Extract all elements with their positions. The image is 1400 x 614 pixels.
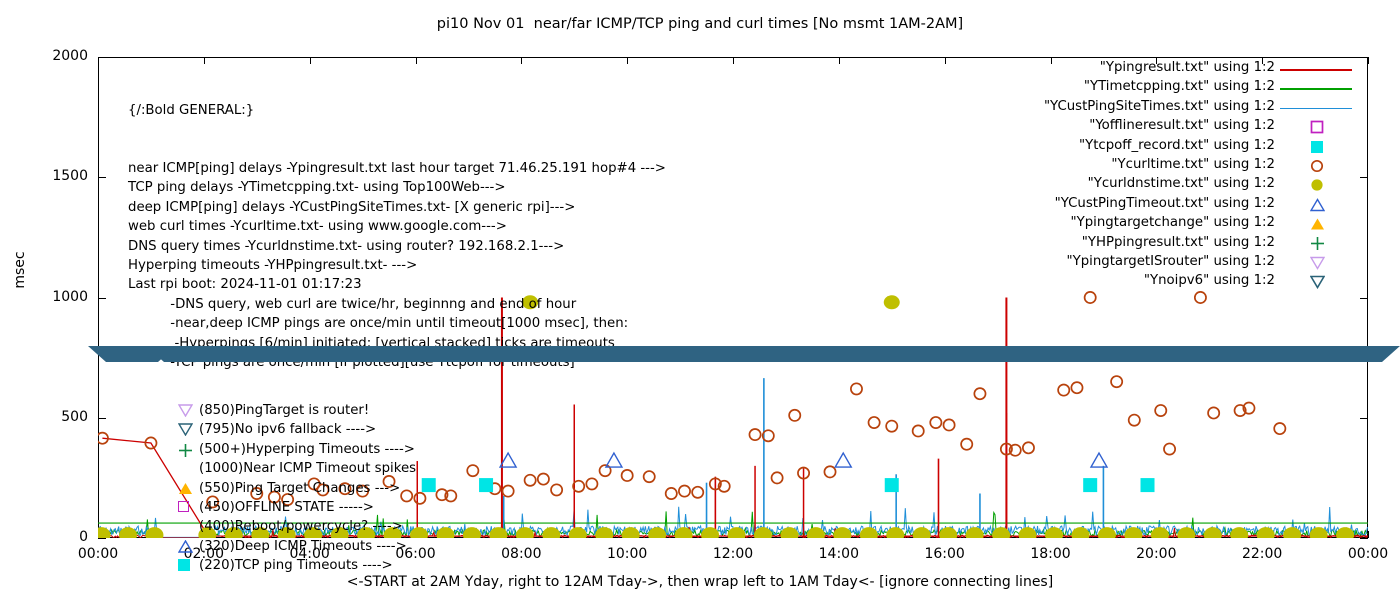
- legend-label: "Ypingresult.txt" using 1:2: [1100, 60, 1275, 75]
- legend-marker-swatch: [1310, 236, 1326, 252]
- legend-line-swatch: [1280, 69, 1352, 71]
- legend-label: "Yofflineresult.txt" using 1:2: [1089, 118, 1275, 133]
- legend-marker-swatch: [1310, 255, 1326, 271]
- legend-label: "Ycurldnstime.txt" using 1:2: [1088, 176, 1275, 191]
- curl-time-marker: [1195, 292, 1206, 303]
- banner-shape: [88, 346, 1400, 362]
- legend-entry[interactable]: "YTimetcpping.txt" using 1:2: [980, 79, 1370, 98]
- curl-time-marker: [644, 471, 655, 482]
- legend-label: "YCustPingTimeout.txt" using 1:2: [1055, 196, 1275, 211]
- legend-marker-swatch: [1310, 216, 1326, 232]
- curl-time-marker: [538, 473, 549, 484]
- anomaly-label: (1000)Near ICMP Timeout spikes: [199, 459, 416, 478]
- curl-time-marker: [467, 465, 478, 476]
- x-tick-label: 14:00: [799, 546, 879, 562]
- curl-time-marker: [551, 484, 562, 495]
- curl-time-marker: [749, 429, 760, 440]
- curl-time-marker: [1023, 442, 1034, 453]
- anomaly-label: (500+)Hyperping Timeouts ---->: [199, 440, 415, 459]
- legend: "Ypingresult.txt" using 1:2"YTimetcpping…: [980, 60, 1370, 293]
- dns-baseline-dot: [913, 527, 931, 538]
- anomaly-row: (500+)Hyperping Timeouts ---->: [128, 440, 416, 459]
- dns-baseline-dot: [98, 527, 111, 538]
- legend-key: [1280, 215, 1352, 234]
- tcp-timeout-marker: [479, 478, 493, 492]
- deep-icmp-timeout-marker: [835, 453, 851, 467]
- legend-key: [1280, 196, 1352, 215]
- general-line: near ICMP[ping] delays -Ypingresult.txt …: [128, 159, 666, 178]
- general-line: DNS query times -Ycurldnstime.txt- using…: [128, 237, 666, 256]
- curl-time-marker: [666, 488, 677, 499]
- legend-marker-swatch: [1310, 197, 1326, 213]
- x-tick-label: 20:00: [1116, 546, 1196, 562]
- dns-baseline-dot: [1257, 527, 1275, 538]
- curl-time-marker: [1058, 384, 1069, 395]
- legend-entry[interactable]: "Yofflineresult.txt" using 1:2: [980, 118, 1370, 137]
- dns-baseline-dot: [569, 527, 587, 538]
- curl-time-marker: [913, 425, 924, 436]
- y-tick-label: 1000: [18, 289, 88, 305]
- anomaly-label: (400)Reboot/powercycle? ---->: [199, 517, 403, 536]
- tcp-timeout-marker: [1141, 478, 1155, 492]
- general-line: Last rpi boot: 2024-11-01 01:17:23: [128, 275, 666, 294]
- general-heading: {/:Bold GENERAL:}: [128, 101, 666, 120]
- legend-entry[interactable]: "YCustPingSiteTimes.txt" using 1:2: [980, 99, 1370, 118]
- chart-root: pi10 Nov 01 near/far ICMP/TCP ping and c…: [0, 0, 1400, 600]
- legend-label: "YHPpingresult.txt" using 1:2: [1082, 235, 1275, 250]
- legend-key: [1280, 273, 1352, 292]
- legend-entry[interactable]: "Ypingresult.txt" using 1:2: [980, 60, 1370, 79]
- legend-marker-swatch: [1310, 158, 1326, 174]
- curl-time-marker: [943, 419, 954, 430]
- anomaly-row: (450)OFFLINE STATE ----->: [128, 498, 416, 517]
- anomaly-label: (795)No ipv6 fallback ---->: [199, 420, 376, 439]
- anomaly-row: (1000)Near ICMP Timeout spikes: [128, 459, 416, 478]
- x-tick-label: 12:00: [693, 546, 773, 562]
- curl-time-marker: [824, 466, 835, 477]
- anomaly-label: (220)TCP ping Timeouts ---->: [199, 556, 393, 575]
- anomaly-row: (400)Reboot/powercycle? ---->: [128, 517, 416, 536]
- anomaly-label: (550)Ping Target Changes --->: [199, 479, 400, 498]
- legend-key: [1280, 254, 1352, 273]
- legend-label: "YpingtargetISrouter" using 1:2: [1066, 254, 1275, 269]
- y-tick-label: 1500: [18, 168, 88, 184]
- x-tick-label: 08:00: [481, 546, 561, 562]
- legend-key: [1280, 157, 1352, 176]
- curl-time-marker: [1164, 443, 1175, 454]
- legend-key: [1280, 138, 1352, 157]
- page-title: pi10 Nov 01 near/far ICMP/TCP ping and c…: [0, 16, 1400, 32]
- legend-label: "YCustPingSiteTimes.txt" using 1:2: [1044, 99, 1275, 114]
- anomaly-row: (220)TCP ping Timeouts ---->: [128, 556, 416, 575]
- y-axis-label: msec: [12, 230, 28, 310]
- dns-baseline-dot: [436, 527, 454, 538]
- curl-time-marker: [930, 417, 941, 428]
- curl-time-marker: [622, 470, 633, 481]
- legend-marker-swatch: [1310, 274, 1326, 290]
- curl-time-marker: [586, 478, 597, 489]
- legend-key: [1280, 99, 1352, 118]
- tcp-timeout-marker: [422, 478, 436, 492]
- tcp-timeout-marker: [885, 478, 899, 492]
- curl-time-marker: [961, 439, 972, 450]
- x-tick-label: 10:00: [587, 546, 667, 562]
- x-tick-label: 22:00: [1222, 546, 1302, 562]
- legend-label: "Ycurltime.txt" using 1:2: [1111, 157, 1275, 172]
- curl-time-marker: [851, 383, 862, 394]
- curl-time-marker: [1155, 405, 1166, 416]
- curl-time-marker: [869, 417, 880, 428]
- y-tick-label: 0: [18, 529, 88, 545]
- legend-label: "Ynoipv6" using 1:2: [1144, 273, 1275, 288]
- legend-marker-swatch: [1310, 139, 1326, 155]
- y-tick-label: 2000: [18, 48, 88, 64]
- legend-key: [1280, 118, 1352, 137]
- y-tick-mark-right: [1360, 538, 1368, 539]
- dns-baseline-dot: [807, 527, 825, 538]
- legend-entry[interactable]: "Ynoipv6" using 1:2: [980, 273, 1370, 292]
- general-line: Hyperping timeouts -YHPpingresult.txt- -…: [128, 256, 666, 275]
- anomaly-label: (320)Deep ICMP Timeouts ---->: [199, 537, 407, 556]
- curl-time-marker: [1071, 382, 1082, 393]
- legend-key: [1280, 79, 1352, 98]
- legend-label: "Ypingtargetchange" using 1:2: [1071, 215, 1276, 230]
- overlay-banner: [88, 346, 1400, 362]
- legend-entry[interactable]: "Ycurldnstime.txt" using 1:2: [980, 176, 1370, 195]
- legend-entry[interactable]: "YCustPingTimeout.txt" using 1:2: [980, 196, 1370, 215]
- general-line: web curl times -Ycurltime.txt- using www…: [128, 217, 666, 236]
- legend-entry[interactable]: "Ytcpoff_record.txt" using 1:2: [980, 138, 1370, 157]
- curl-time-marker: [1129, 415, 1140, 426]
- curl-time-marker: [974, 388, 985, 399]
- legend-key: [1280, 235, 1352, 254]
- dns-baseline-dot: [992, 527, 1010, 538]
- anomaly-row: (320)Deep ICMP Timeouts ---->: [128, 537, 416, 556]
- legend-entry[interactable]: "YHPpingresult.txt" using 1:2: [980, 235, 1370, 254]
- x-tick-label: 00:00: [1328, 546, 1400, 562]
- general-line: TCP ping delays -YTimetcpping.txt- using…: [128, 178, 666, 197]
- dns-outlier-dot: [884, 295, 900, 309]
- tcp-timeout-marker: [1083, 478, 1097, 492]
- legend-entry[interactable]: "Ycurltime.txt" using 1:2: [980, 157, 1370, 176]
- legend-marker-swatch: [1310, 177, 1326, 193]
- deep-icmp-timeout-marker: [1091, 453, 1107, 467]
- x-tick-label: 00:00: [58, 546, 138, 562]
- curl-time-marker: [789, 410, 800, 421]
- curl-time-marker: [886, 421, 897, 432]
- legend-key: [1280, 60, 1352, 79]
- curl-time-marker: [771, 472, 782, 483]
- general-line: deep ICMP[ping] delays -YCustPingSiteTim…: [128, 198, 666, 217]
- deep-icmp-timeout-marker: [606, 453, 622, 467]
- curl-time-marker: [1111, 376, 1122, 387]
- anomaly-rows: (850)PingTarget is router!(795)No ipv6 f…: [128, 401, 416, 576]
- curl-time-marker: [1208, 407, 1219, 418]
- x-tick-label: 18:00: [1011, 546, 1091, 562]
- legend-label: "YTimetcpping.txt" using 1:2: [1084, 79, 1275, 94]
- y-tick-mark: [98, 538, 106, 539]
- legend-line-swatch: [1280, 88, 1352, 90]
- square-open-icon: [178, 501, 189, 512]
- legend-entry[interactable]: "Ypingtargetchange" using 1:2: [980, 215, 1370, 234]
- curl-time-marker: [503, 486, 514, 497]
- legend-line-swatch: [1280, 108, 1352, 110]
- legend-entry[interactable]: "YpingtargetISrouter" using 1:2: [980, 254, 1370, 273]
- curl-time-marker: [525, 475, 536, 486]
- x-tick-label: 16:00: [905, 546, 985, 562]
- curl-time-marker: [1085, 292, 1096, 303]
- y-tick-label: 500: [18, 409, 88, 425]
- anomaly-row: (550)Ping Target Changes --->: [128, 479, 416, 498]
- x-tick-mark: [1368, 531, 1369, 538]
- dns-baseline-dot: [966, 527, 984, 538]
- legend-label: "Ytcpoff_record.txt" using 1:2: [1079, 138, 1275, 153]
- square-filled-icon: [178, 559, 190, 571]
- legend-key: [1280, 176, 1352, 195]
- curl-time-marker: [692, 487, 703, 498]
- dns-baseline-dot: [1045, 527, 1063, 538]
- curl-time-marker: [679, 486, 690, 497]
- anomaly-label: (850)PingTarget is router!: [199, 401, 369, 420]
- anomaly-row: (795)No ipv6 fallback ---->: [128, 420, 416, 439]
- legend-marker-swatch: [1310, 119, 1326, 135]
- curl-time-marker: [1274, 423, 1285, 434]
- anomaly-row: (850)PingTarget is router!: [128, 401, 416, 420]
- dns-baseline-dot: [860, 527, 878, 538]
- anomaly-label: (450)OFFLINE STATE ----->: [199, 498, 374, 517]
- dns-baseline-dot: [1230, 527, 1248, 538]
